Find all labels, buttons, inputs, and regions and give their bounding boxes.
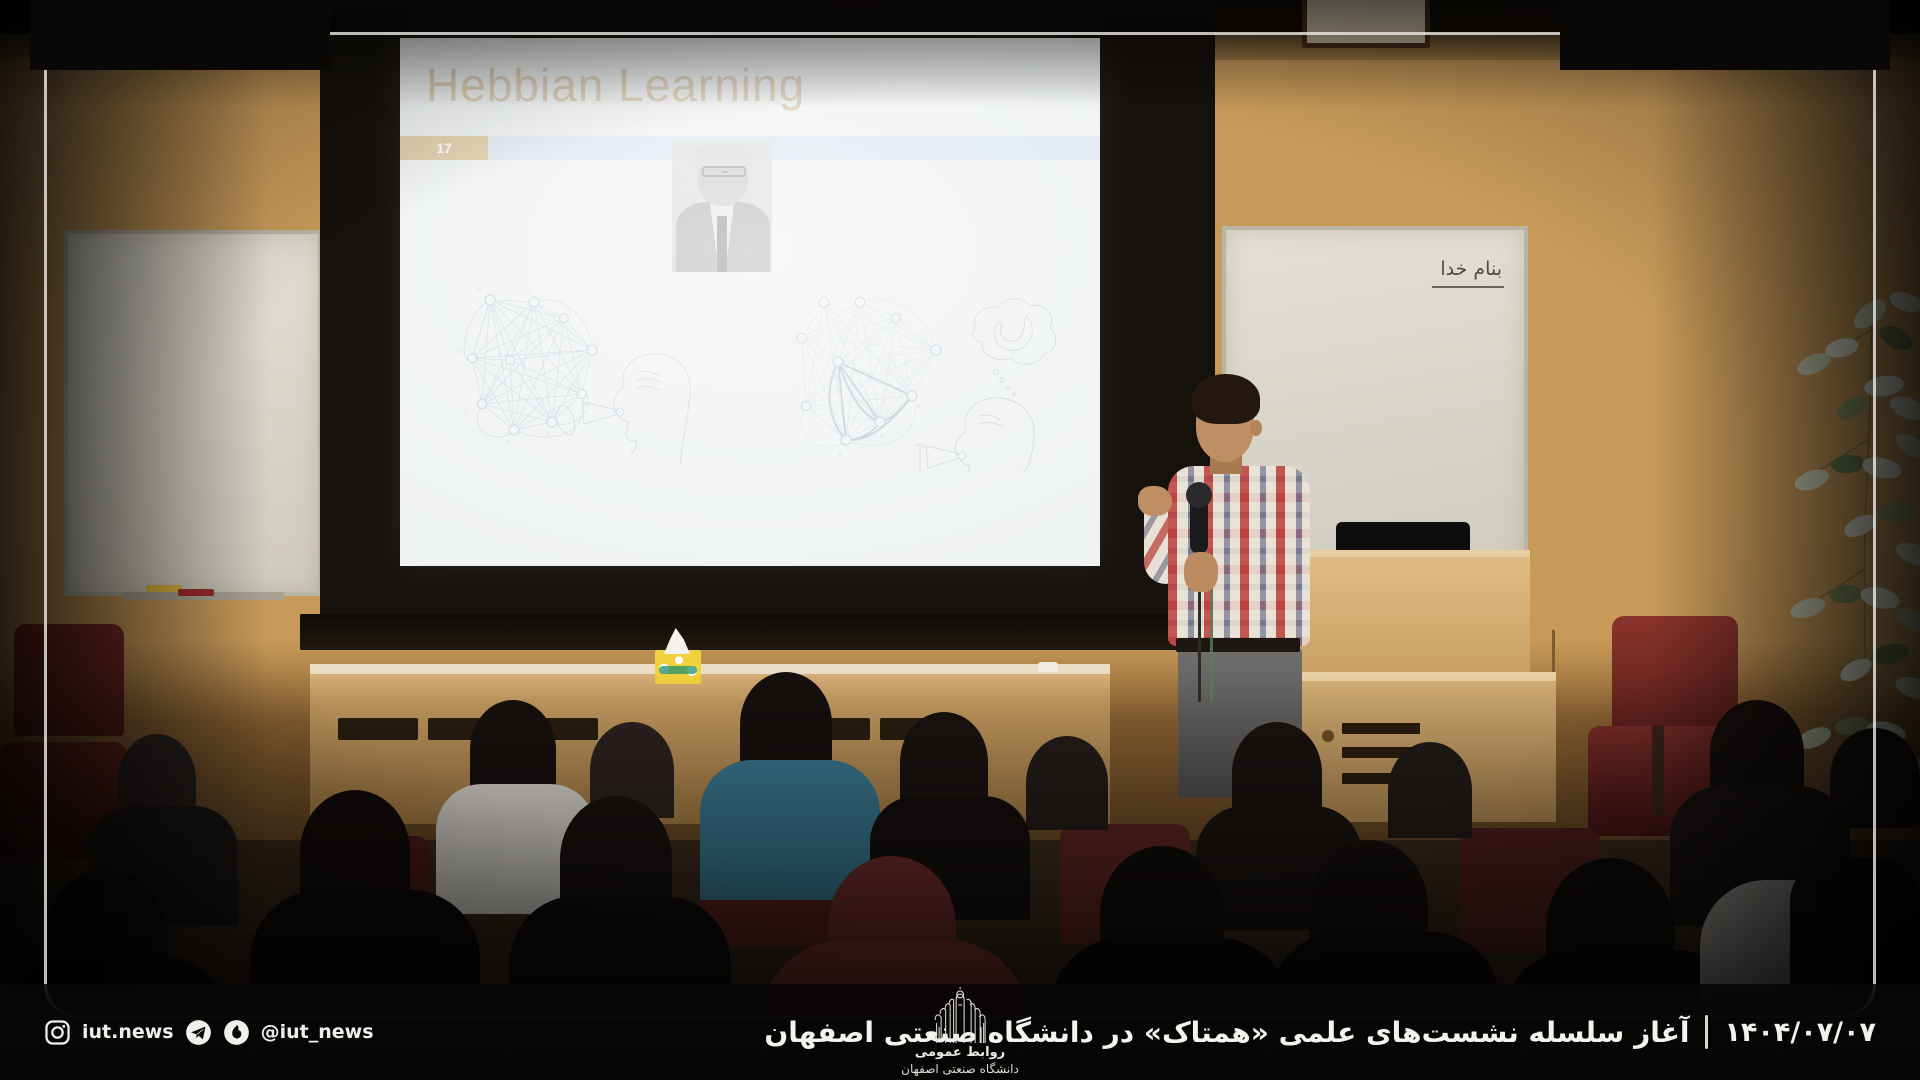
svg-text:4: 4 (917, 404, 921, 410)
bale-handle[interactable]: @iut_news (261, 1021, 374, 1043)
microphone-cord-green (1210, 582, 1213, 702)
portrait-glasses (702, 166, 746, 177)
wall-picture-frame (1302, 0, 1430, 48)
bale-icon[interactable] (223, 1019, 250, 1046)
side-chair-left-1 (14, 624, 124, 736)
svg-text:1: 1 (529, 288, 533, 294)
whiteboard-underline (1432, 286, 1504, 288)
screenshot-root: 7 05 بنام خدا Hebbian Learning 17 (0, 0, 1920, 1080)
marker-yellow (146, 585, 182, 592)
public-relations-logo: روابط عمومی دانشگاه صنعتی اصفهان (901, 987, 1019, 1076)
projection-screen-top-roller (320, 0, 1215, 34)
slide-title: Hebbian Learning (426, 58, 805, 112)
presenter-mic-hand (1184, 552, 1218, 592)
instagram-handle[interactable]: iut.news (82, 1021, 174, 1043)
side-chair-right-post (1652, 726, 1664, 816)
presenter-hair (1192, 374, 1260, 424)
presenter-belt (1176, 638, 1300, 652)
svg-text:3: 3 (597, 342, 601, 348)
projected-slide: Hebbian Learning 17 (400, 38, 1100, 566)
presenter-ear (1250, 420, 1262, 436)
slide-number-badge: 17 (400, 136, 488, 160)
social-handles: iut.news @iut_news (44, 984, 374, 1080)
instagram-icon[interactable] (44, 1019, 71, 1046)
telegram-icon[interactable] (185, 1019, 212, 1046)
presenter-gesturing-hand (1138, 486, 1172, 516)
svg-text:5: 5 (881, 434, 885, 440)
microphone-head (1186, 482, 1212, 508)
podium-slot-1 (1342, 723, 1420, 734)
portrait-tie (717, 216, 727, 272)
tissue-box-label (659, 666, 697, 674)
wall-clock-digits: 7 05 (193, 0, 262, 9)
event-photograph: 7 05 بنام خدا Hebbian Learning 17 (0, 0, 1920, 1080)
caption-bar: ۱۴۰۴/۰۷/۰۷ آغاز سلسله نشست‌های علمی «همت… (0, 984, 1920, 1080)
projection-screen-bottom-bar (300, 614, 1235, 650)
trained-network-diagram: 456 (780, 284, 1068, 472)
desk-cup (1038, 662, 1058, 672)
logo-line-2: دانشگاه صنعتی اصفهان (901, 1062, 1019, 1076)
side-chair-right-1 (1612, 616, 1738, 734)
svg-text:8: 8 (457, 350, 461, 356)
svg-text:6: 6 (839, 452, 843, 458)
marker-red (178, 589, 214, 596)
logo-line-1: روابط عمومی (915, 1045, 1005, 1060)
whiteboard-note: بنام خدا (1440, 258, 1502, 280)
audience-head (1388, 742, 1472, 838)
tissue-box (655, 650, 701, 684)
desk-vent-1 (338, 718, 418, 740)
hebb-portrait (672, 140, 772, 272)
svg-text:5: 5 (547, 432, 551, 438)
audience-head (1026, 736, 1108, 830)
caption-separator (1705, 1015, 1708, 1049)
iut-monument-icon (925, 987, 995, 1043)
svg-text:7: 7 (465, 412, 469, 418)
svg-text:10: 10 (475, 288, 482, 294)
svg-text:9: 9 (499, 350, 503, 356)
caption-date: ۱۴۰۴/۰۷/۰۷ (1724, 1017, 1876, 1048)
untrained-network-diagram: 1012 345 678 9 (442, 284, 692, 472)
svg-text:2: 2 (567, 308, 571, 314)
portrait-hair (694, 142, 752, 168)
svg-text:6: 6 (507, 440, 511, 446)
wall-clock: 7 05 (178, 0, 276, 20)
whiteboard-left (64, 230, 322, 596)
